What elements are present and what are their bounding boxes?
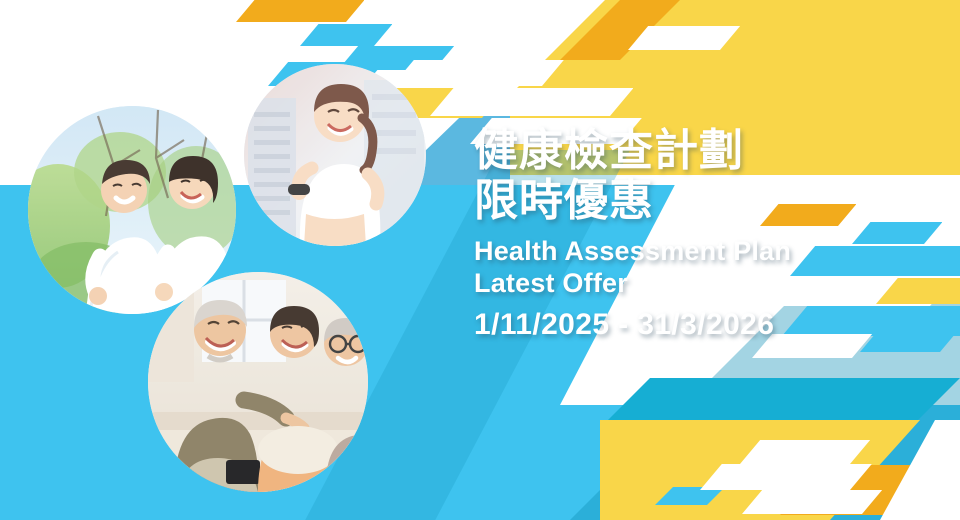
photo-couple-jogging [28,106,236,314]
photo-seniors-sofa [148,272,368,492]
headline-english-line2: Latest Offer [474,267,944,299]
shape-orange-top-strip [236,0,364,22]
photo-woman-running [244,64,426,246]
couple-jogging-illustration [28,106,236,314]
seniors-sofa-illustration [148,272,368,492]
woman-running-illustration [244,64,426,246]
shape-white-b1 [740,440,870,464]
headline-chinese-line2: 限時優惠 [474,176,944,226]
shape-white-b3 [742,490,882,514]
shape-white-mid-a [392,60,564,86]
shape-white-mid-b [430,88,633,116]
promotion-date-range: 1/11/2025 - 31/3/2026 [474,307,944,343]
health-assessment-banner: 健康檢查計劃 限時優惠 Health Assessment Plan Lates… [0,0,960,520]
headline-english-line1: Health Assessment Plan [474,235,944,267]
shape-white-b2 [700,464,872,490]
headline-copy-block: 健康檢查計劃 限時優惠 Health Assessment Plan Lates… [474,126,944,343]
headline-chinese-line1: 健康檢查計劃 [474,126,944,176]
